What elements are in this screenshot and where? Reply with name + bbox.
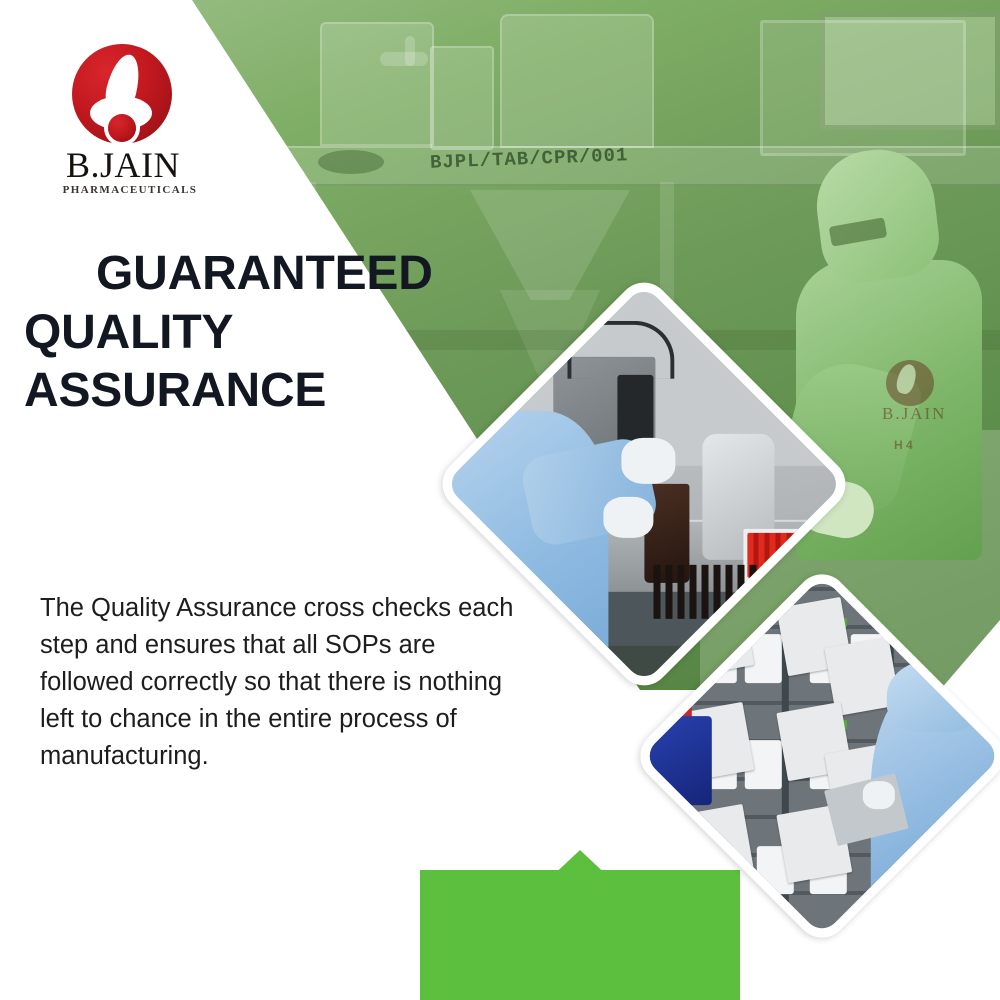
page-title: GUARANTEED QUALITY ASSURANCE (24, 245, 544, 421)
poster-canvas: BJPL/TAB/CPR/001 B.JAIN H 4 B.JAIN PHARM… (0, 0, 1000, 1000)
machine-hopper-3 (430, 46, 494, 150)
brand-logo[interactable]: B.JAIN PHARMACEUTICALS (48, 44, 198, 194)
bjain-flame-circle-logo-icon (72, 44, 172, 144)
green-suited-worker: B.JAIN H 4 (790, 150, 990, 620)
machine-hopper-2 (500, 14, 654, 148)
machine-brand-badge (318, 150, 384, 174)
machine-hopper-1 (320, 22, 434, 146)
machine-handle (380, 52, 428, 66)
headline-line-1: GUARANTEED (24, 245, 544, 304)
headline-line-2: QUALITY ASSURANCE (24, 304, 544, 421)
worker-uniform-code: H 4 (894, 438, 913, 452)
brand-name: B.JAIN (48, 144, 198, 186)
worker-hood (811, 143, 944, 286)
brand-tagline: PHARMACEUTICALS (48, 184, 198, 196)
machine-panel-door (760, 20, 966, 156)
worker-uniform-brand: B.JAIN (882, 404, 946, 424)
body-paragraph: The Quality Assurance cross checks each … (40, 590, 530, 775)
worker-uniform-logo-icon (886, 360, 934, 406)
